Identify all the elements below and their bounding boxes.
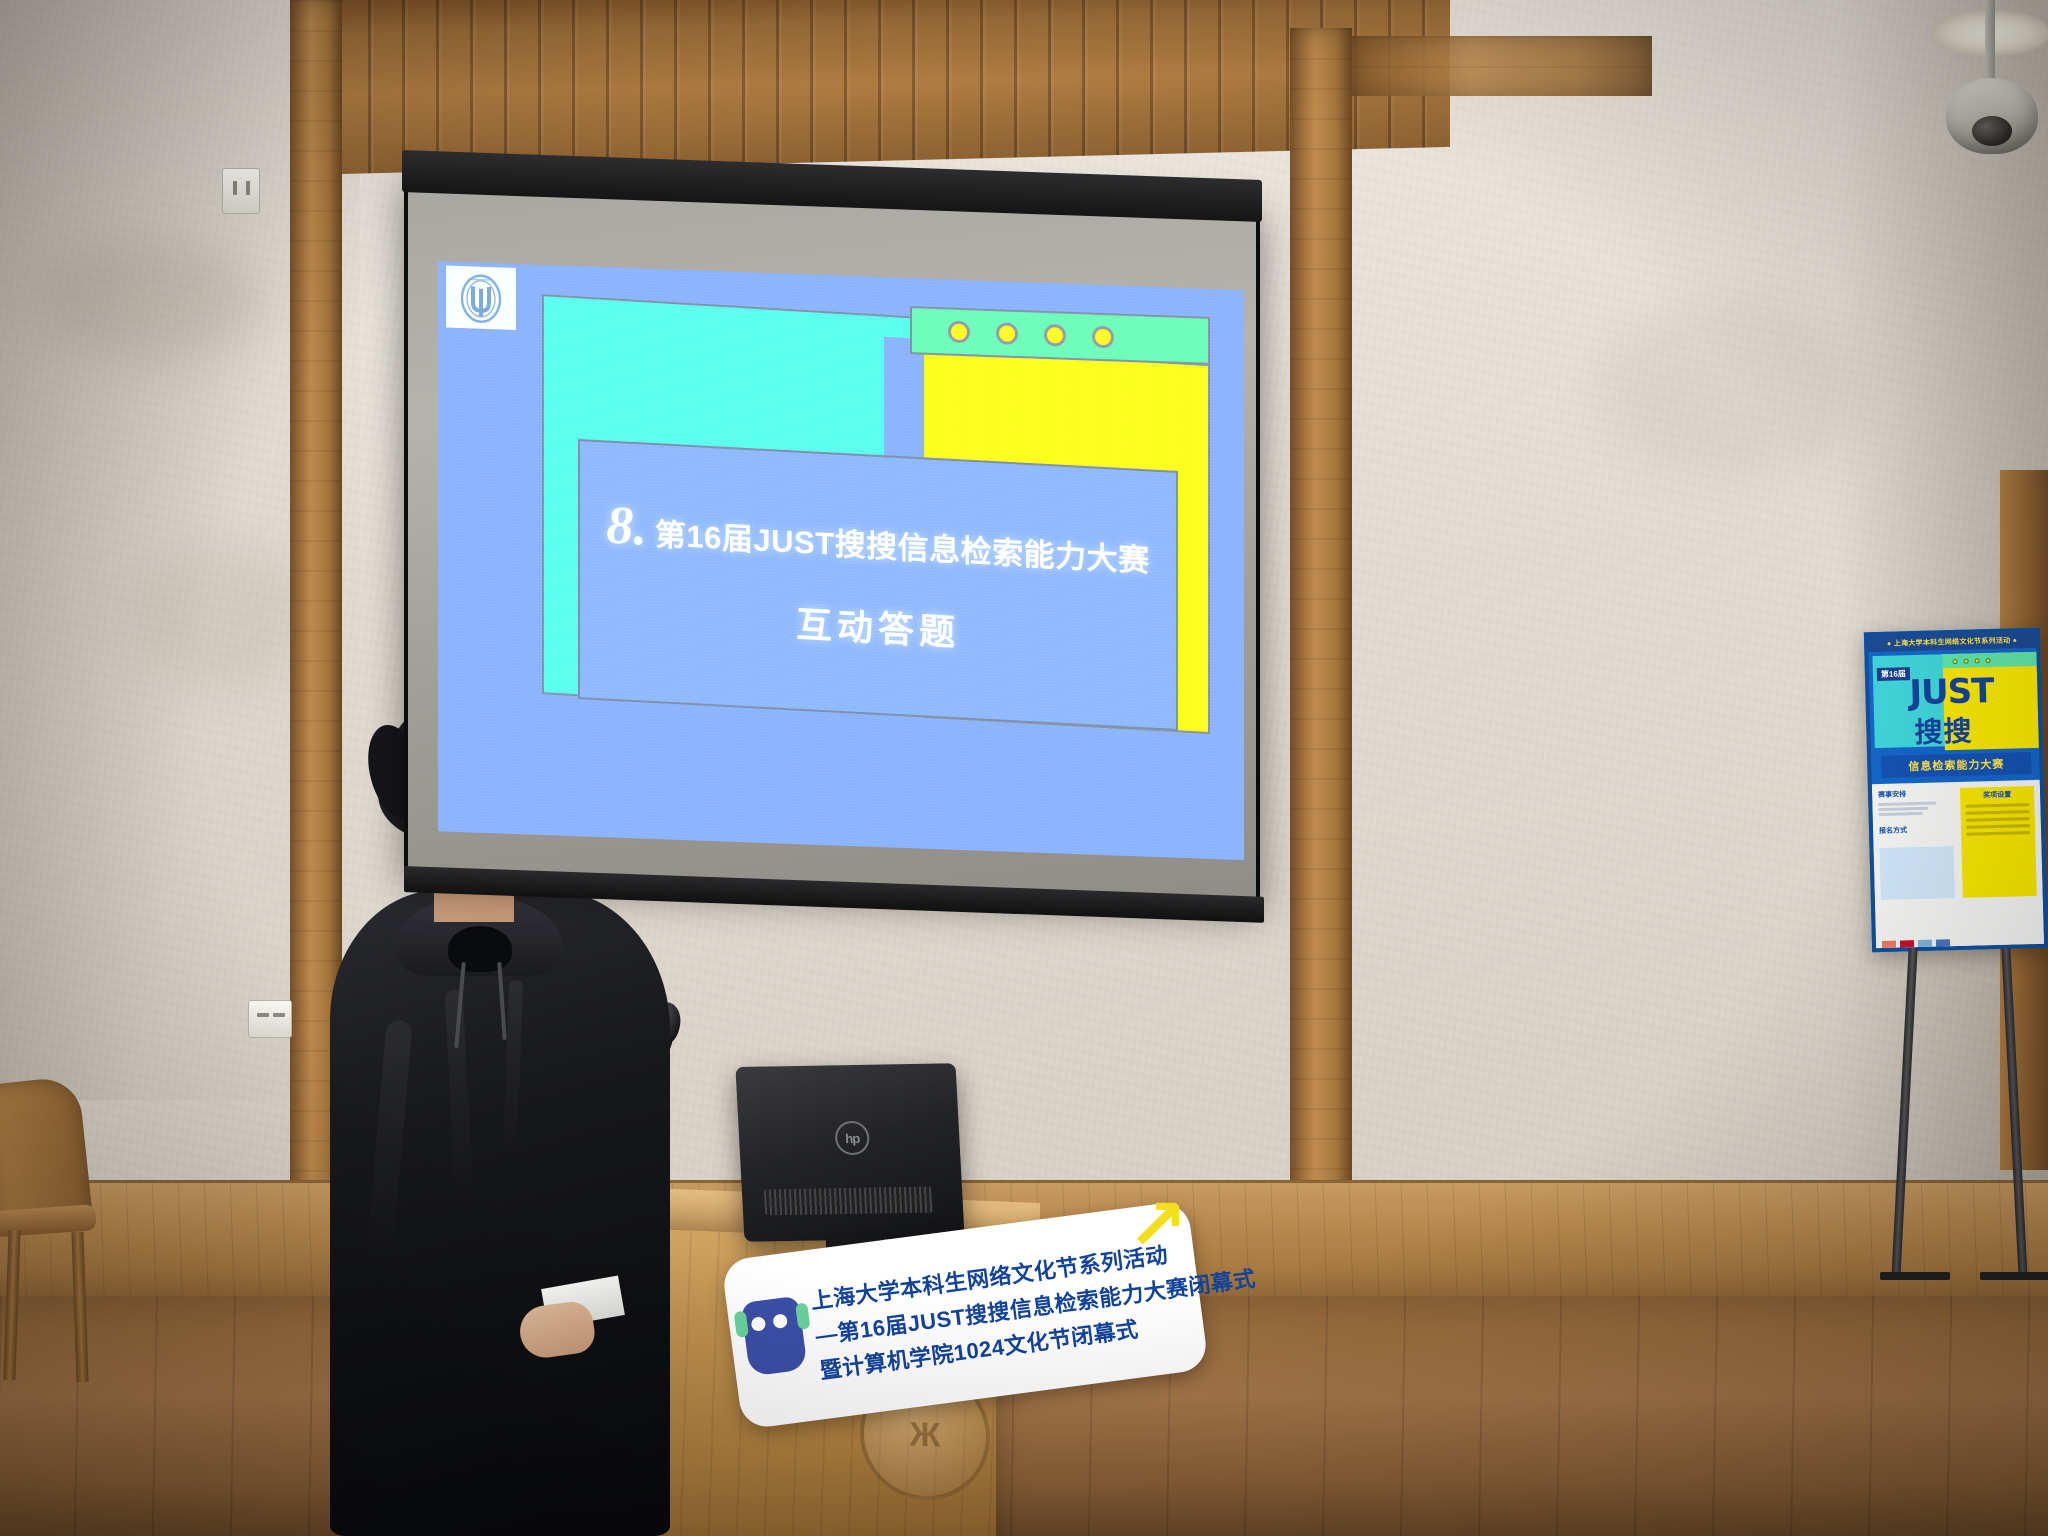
easel-foot (1880, 1272, 1950, 1280)
hp-logo-icon: hp (834, 1121, 870, 1156)
poster-dot-icon (1953, 658, 1958, 663)
screen-surface: 8. 第16届JUST搜搜信息检索能力大赛 互动答题 PICC ● 易班 yib… (408, 180, 1256, 902)
poster-brand-en: JUST (1909, 671, 1994, 713)
wall-power-outlet[interactable] (222, 168, 260, 214)
poster-sponsor-icon (1936, 939, 1950, 947)
monitor-vent (764, 1187, 933, 1216)
poster-hero: 第16届 JUST 搜搜 信息检索能力大赛 (1868, 648, 2039, 784)
window-dot-icon (996, 322, 1018, 345)
poster-sponsor-icon (1882, 941, 1896, 949)
poster-window-bar (1942, 652, 2036, 668)
poster-dot-icon (1986, 658, 1991, 663)
poster-dot-icon (1964, 658, 1969, 663)
poster-dot-icon (1975, 658, 1980, 663)
window-dot-icon (1092, 326, 1114, 349)
hoodie-neckline (448, 926, 512, 972)
wall-stain (40, 240, 260, 360)
poster-awards-panel: 奖项设置 (1960, 786, 2037, 898)
slide-content-card: 8. 第16届JUST搜搜信息检索能力大赛 互动答题 (578, 439, 1178, 731)
wall-power-outlet[interactable] (248, 1000, 292, 1038)
hp-monitor[interactable]: hp (735, 1063, 964, 1242)
slide-title: 第16届JUST搜搜信息检索能力大赛 (655, 509, 1150, 580)
slide-number-marker: 8. (606, 498, 647, 554)
poster-ribbon-title: 信息检索能力大赛 (1881, 752, 2032, 778)
wood-panel-header (300, 0, 1450, 175)
poster-edition-badge: 第16届 (1877, 667, 1910, 681)
wall-stain (130, 540, 310, 690)
camera-mount-arm (1985, 0, 1995, 88)
poster-qr-panel (1879, 846, 1954, 900)
event-poster[interactable]: ● 上海大学本科生网络文化节系列活动 ● 第16届 JUST 搜搜 信息检索能力… (1864, 628, 2048, 952)
window-dot-icon (1044, 324, 1066, 347)
camera-lens-icon (1972, 116, 2012, 146)
slide-subtitle: 互动答题 (796, 596, 960, 657)
poster-awards-heading: 奖项设置 (1960, 786, 2034, 801)
window-dot-icon (948, 320, 970, 343)
pull-down-projection-screen: 8. 第16届JUST搜搜信息检索能力大赛 互动答题 PICC ● 易班 yib… (404, 176, 1260, 907)
presentation-slide: 8. 第16届JUST搜搜信息检索能力大赛 互动答题 PICC ● 易班 yib… (438, 261, 1244, 860)
poster-body: 赛事安排 奖项设置 报名方式 (1872, 780, 2044, 952)
poster-sponsor-icon (1918, 940, 1932, 948)
lecture-hall-scene: 8. 第16届JUST搜搜信息检索能力大赛 互动答题 PICC ● 易班 yib… (0, 0, 2048, 1536)
window-dot-group (912, 308, 1208, 363)
wood-slat-texture (300, 0, 1450, 175)
easel-foot (1980, 1272, 2048, 1280)
shanghai-university-logo (446, 266, 516, 331)
poster-brand-zh: 搜搜 (1914, 710, 1973, 752)
wood-column-right (1290, 28, 1352, 1298)
slide-title-row: 8. 第16届JUST搜搜信息检索能力大赛 (606, 498, 1149, 581)
wood-beam (1352, 36, 1652, 96)
lightning-arrow-icon: ↗ (1127, 1189, 1198, 1280)
robot-mascot (741, 1296, 808, 1377)
